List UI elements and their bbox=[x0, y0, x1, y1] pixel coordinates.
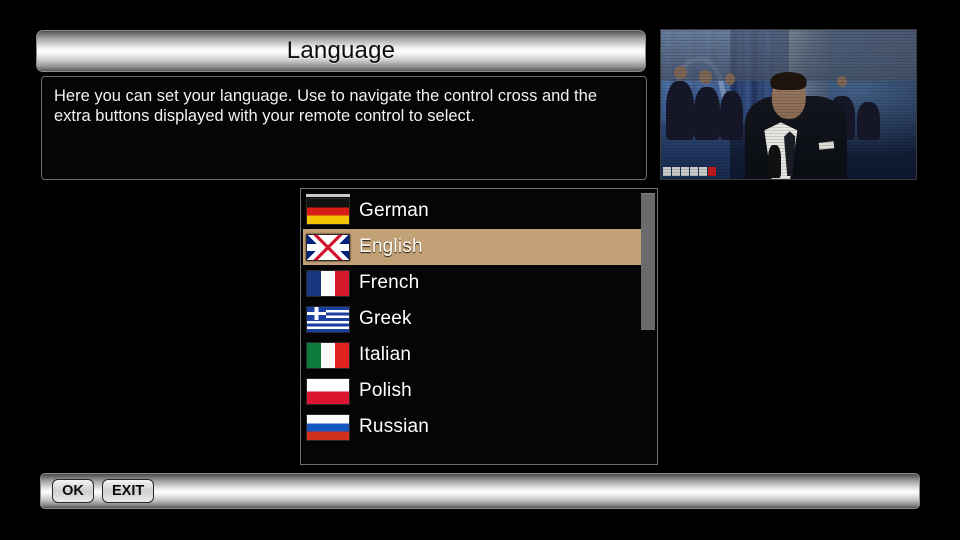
list-item-label: French bbox=[359, 272, 419, 294]
description-panel: Here you can set your language. Use to n… bbox=[41, 76, 647, 180]
list-item[interactable]: Greek bbox=[303, 301, 643, 337]
list-item[interactable]: Polish bbox=[303, 373, 643, 409]
list-item-label: Russian bbox=[359, 416, 429, 438]
flag-icon-united-kingdom bbox=[306, 234, 350, 261]
list-item-label: Greek bbox=[359, 308, 412, 330]
flag-icon-poland bbox=[306, 378, 350, 405]
language-list-items: German English French Greek Italian Poli bbox=[301, 189, 643, 464]
video-scanline-overlay bbox=[661, 30, 916, 179]
footer-bar: OK EXIT bbox=[40, 473, 920, 509]
flag-icon-russia bbox=[306, 414, 350, 441]
list-item-label: Polish bbox=[359, 380, 412, 402]
list-item[interactable]: English bbox=[303, 229, 643, 265]
ok-button[interactable]: OK bbox=[52, 479, 94, 503]
scrollbar-track[interactable] bbox=[641, 191, 655, 464]
list-item-label: German bbox=[359, 200, 429, 222]
title-bar: Language bbox=[36, 30, 646, 72]
list-item[interactable]: Italian bbox=[303, 337, 643, 373]
language-list-panel[interactable]: German English French Greek Italian Poli bbox=[300, 188, 658, 465]
page-title: Language bbox=[287, 37, 395, 65]
scrollbar-thumb[interactable] bbox=[641, 193, 655, 330]
flag-icon-italy bbox=[306, 342, 350, 369]
description-text: Here you can set your language. Use to n… bbox=[54, 86, 634, 126]
video-preview[interactable] bbox=[660, 29, 917, 180]
list-item-label: English bbox=[359, 236, 423, 258]
list-item[interactable]: French bbox=[303, 265, 643, 301]
flag-icon-france bbox=[306, 270, 350, 297]
osd-screen: Language Here you can set your language.… bbox=[0, 0, 960, 540]
flag-icon-greece bbox=[306, 306, 350, 333]
list-item[interactable]: Russian bbox=[303, 409, 643, 445]
exit-button[interactable]: EXIT bbox=[102, 479, 154, 503]
list-item[interactable]: German bbox=[303, 193, 643, 229]
list-item-label: Italian bbox=[359, 344, 411, 366]
flag-icon-germany bbox=[306, 198, 350, 225]
